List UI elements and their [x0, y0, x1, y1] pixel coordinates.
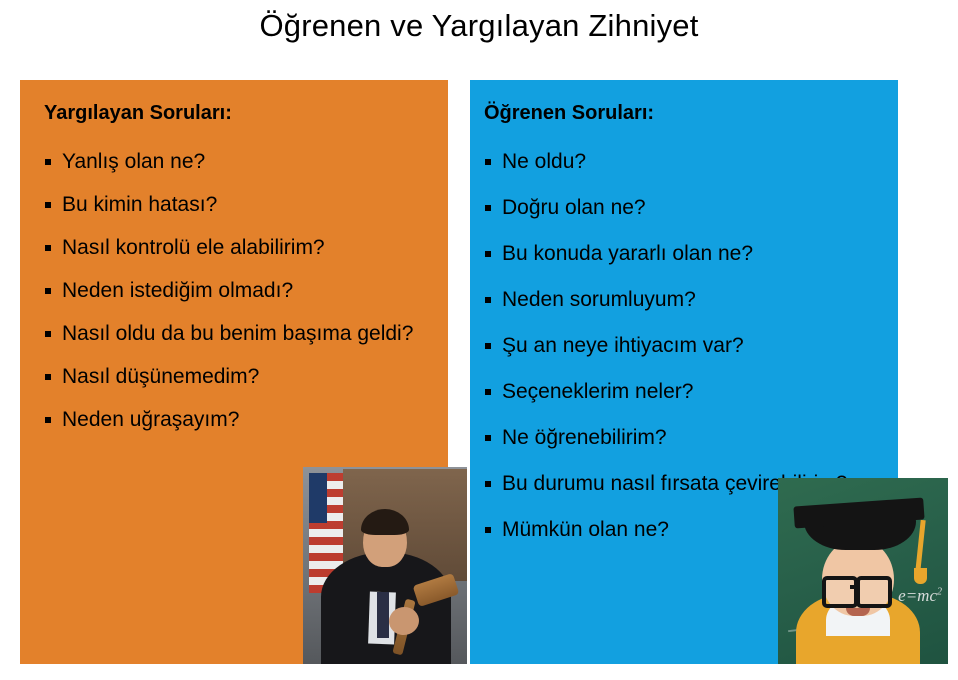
square-bullet-icon [485, 343, 491, 349]
square-bullet-icon [485, 481, 491, 487]
list-item-label: Nasıl kontrolü ele alabilirim? [62, 236, 325, 259]
square-bullet-icon [485, 297, 491, 303]
square-bullet-icon [45, 331, 51, 337]
list-item-label: Ne oldu? [502, 150, 586, 173]
list-item: Bu konuda yararlı olan ne? [476, 240, 888, 269]
list-item-label: Bu kimin hatası? [62, 193, 217, 216]
list-item-label: Neden uğraşayım? [62, 408, 239, 431]
list-item: Yanlış olan ne? [36, 148, 436, 177]
list-item: Ne oldu? [476, 148, 888, 177]
list-item-label: Doğru olan ne? [502, 196, 646, 219]
graduation-tassel-knot [914, 568, 927, 584]
eyeglasses-right-lens-icon [856, 576, 892, 608]
formula-text: e=mc [898, 586, 937, 605]
us-flag-canton [309, 473, 327, 523]
list-item: Nasıl düşünemedim? [36, 363, 436, 392]
square-bullet-icon [485, 527, 491, 533]
square-bullet-icon [45, 245, 51, 251]
square-bullet-icon [485, 251, 491, 257]
list-item: Doğru olan ne? [476, 194, 888, 223]
list-item-label: Nasıl oldu da bu benim başıma geldi? [62, 322, 413, 345]
list-item-label: Nasıl düşünemedim? [62, 365, 259, 388]
list-item: Şu an neye ihtiyacım var? [476, 332, 888, 361]
graduate-boy-photo: e=mc2 [778, 478, 948, 664]
list-item: Ne öğrenebilirim? [476, 424, 888, 453]
list-item-label: Mümkün olan ne? [502, 518, 669, 541]
list-item-label: Bu konuda yararlı olan ne? [502, 242, 753, 265]
list-item-label: Seçeneklerim neler? [502, 380, 693, 403]
list-item: Nasıl oldu da bu benim başıma geldi? [36, 320, 436, 349]
list-item: Neden istediğim olmadı? [36, 277, 436, 306]
list-judging-questions: Yanlış olan ne? Bu kimin hatası? Nasıl k… [36, 148, 436, 449]
list-item: Bu kimin hatası? [36, 191, 436, 220]
square-bullet-icon [45, 159, 51, 165]
square-bullet-icon [45, 202, 51, 208]
list-item-label: Şu an neye ihtiyacım var? [502, 334, 744, 357]
square-bullet-icon [45, 374, 51, 380]
square-bullet-icon [45, 417, 51, 423]
list-item-label: Neden sorumluyum? [502, 288, 696, 311]
list-item-label: Neden istediğim olmadı? [62, 279, 293, 302]
eyeglasses-left-lens-icon [822, 576, 858, 608]
eyeglasses-bridge [850, 585, 858, 589]
panel-heading-learning: Öğrenen Soruları: [484, 102, 654, 125]
square-bullet-icon [485, 205, 491, 211]
judge-photo [303, 467, 467, 664]
page-title: Öğrenen ve Yargılayan Zihniyet [0, 8, 958, 44]
formula-exponent: 2 [937, 586, 942, 597]
list-item-label: Ne öğrenebilirim? [502, 426, 667, 449]
square-bullet-icon [45, 288, 51, 294]
list-item: Neden uğraşayım? [36, 406, 436, 435]
slide-canvas: Öğrenen ve Yargılayan Zihniyet Yargılaya… [0, 0, 958, 680]
list-item: Seçeneklerim neler? [476, 378, 888, 407]
panel-heading-judging: Yargılayan Soruları: [44, 102, 232, 125]
list-item: Neden sorumluyum? [476, 286, 888, 315]
list-item-label: Yanlış olan ne? [62, 150, 205, 173]
judge-tie [377, 592, 389, 638]
square-bullet-icon [485, 435, 491, 441]
chalkboard-formula: e=mc2 [898, 586, 942, 606]
list-item: Nasıl kontrolü ele alabilirim? [36, 234, 436, 263]
square-bullet-icon [485, 159, 491, 165]
square-bullet-icon [485, 389, 491, 395]
